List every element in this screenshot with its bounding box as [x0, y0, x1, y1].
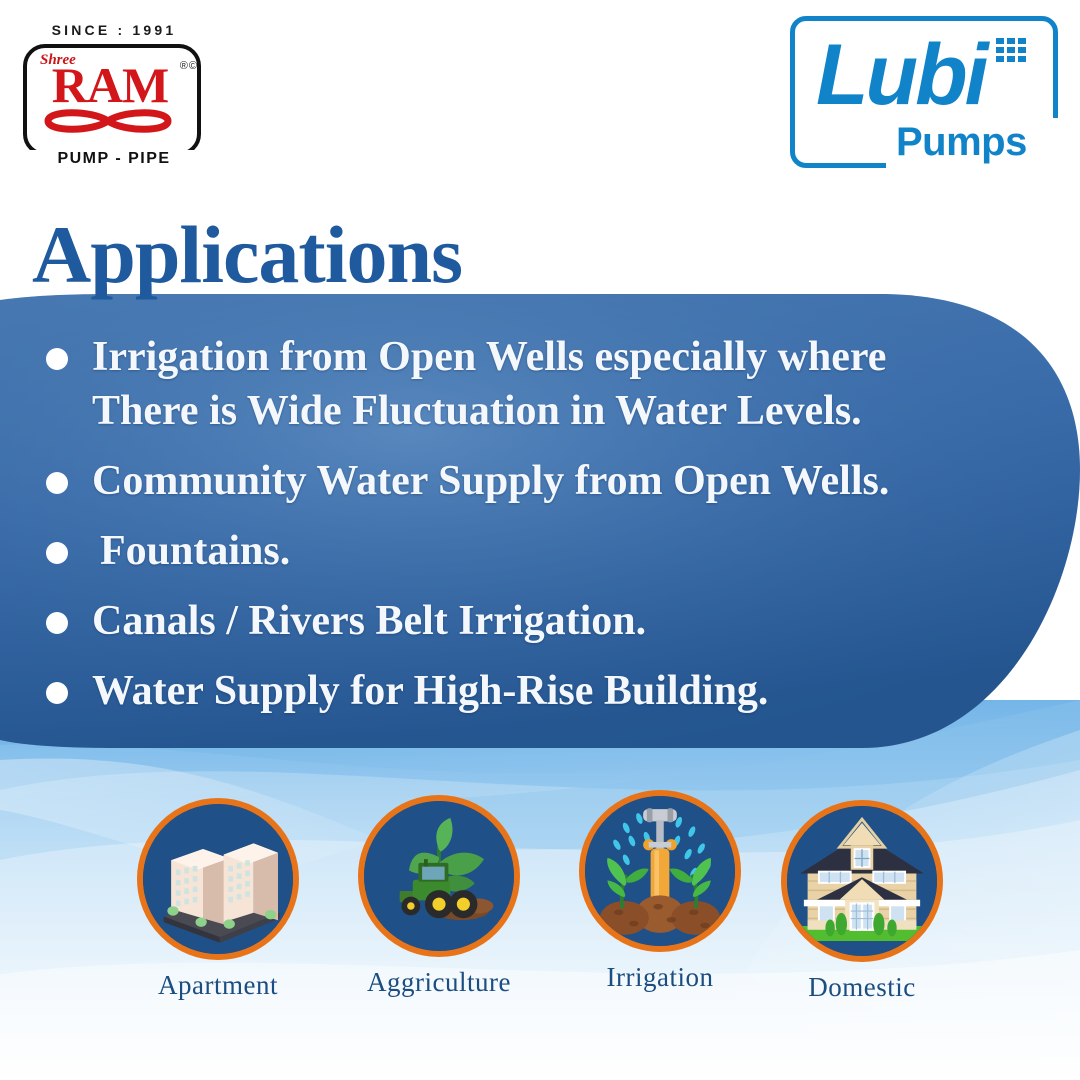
bullet-text: Canals / Rivers Belt Irrigation. [92, 594, 646, 648]
house-icon [787, 806, 937, 956]
lubi-pumps-label-box: Pumps [886, 118, 1066, 170]
lubi-wordmark: Lubi [816, 32, 986, 118]
application-label: Aggriculture [344, 967, 534, 998]
lubi-pumps-label: Pumps [896, 120, 1027, 165]
bullet-text: Water Supply for High-Rise Building. [92, 664, 768, 718]
application-label: Irrigation [565, 962, 755, 993]
since-text: SINCE : 1991 [16, 22, 212, 38]
bullet-dot-icon [46, 472, 68, 494]
applications-poster: SINCE : 1991 Shree RAM ®© PUMP - PIPE Lu… [0, 0, 1080, 1080]
bullet-dot-icon [46, 348, 68, 370]
bullet-dot-icon [46, 542, 68, 564]
shree-ram-logo: SINCE : 1991 Shree RAM ®© PUMP - PIPE [16, 22, 212, 164]
bullet-text: Irrigation from Open Wells especially wh… [92, 330, 1000, 438]
applications-bullet-list: Irrigation from Open Wells especially wh… [0, 330, 1000, 734]
list-item: Fountains. [0, 524, 1000, 578]
application-item-irrigation: Irrigation [565, 790, 755, 993]
application-item-apartment: Apartment [123, 798, 313, 1001]
lubi-pumps-logo: Lubi Pumps [790, 16, 1058, 168]
application-label: Apartment [123, 970, 313, 1001]
list-item: Community Water Supply from Open Wells. [0, 454, 1000, 508]
application-item-agriculture: Aggriculture [344, 795, 534, 998]
apartment-circle [137, 798, 299, 960]
trademark-text: ®© [180, 60, 198, 72]
domestic-circle [781, 800, 943, 962]
application-item-domestic: Domestic [767, 800, 957, 1003]
ram-swirl-icon [44, 108, 180, 134]
sprinkler-icon [585, 796, 735, 946]
apartment-building-icon [143, 804, 293, 954]
irrigation-circle [579, 790, 741, 952]
page-title: Applications [32, 212, 462, 298]
ram-wordmark: RAM [40, 60, 180, 110]
list-item: Canals / Rivers Belt Irrigation. [0, 594, 1000, 648]
agriculture-circle [358, 795, 520, 957]
bullet-text: Community Water Supply from Open Wells. [92, 454, 889, 508]
tractor-plant-icon [364, 801, 514, 951]
bullet-dot-icon [46, 682, 68, 704]
pump-pipe-text: PUMP - PIPE [16, 150, 212, 168]
header: SINCE : 1991 Shree RAM ®© PUMP - PIPE Lu… [0, 0, 1080, 200]
list-item: Irrigation from Open Wells especially wh… [0, 330, 1000, 438]
list-item: Water Supply for High-Rise Building. [0, 664, 1000, 718]
application-label: Domestic [767, 972, 957, 1003]
bullet-dot-icon [46, 612, 68, 634]
bullet-text: Fountains. [100, 524, 290, 578]
application-icons-row: Apartment [0, 780, 1080, 1040]
grid-dots-icon [996, 38, 1026, 64]
